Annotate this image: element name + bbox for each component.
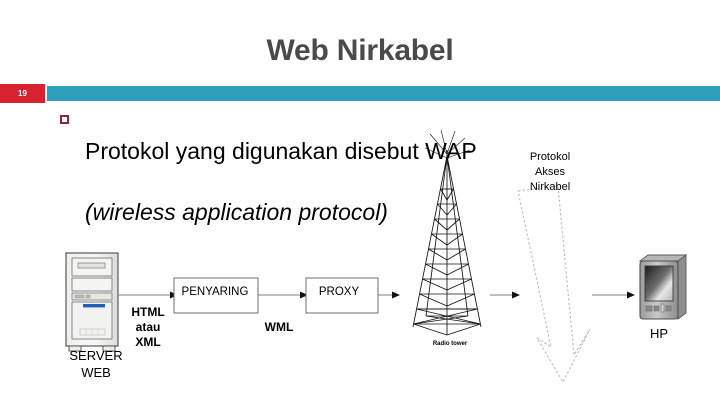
- label-protokol-akses-nirkabel: Protokol Akses Nirkabel: [505, 150, 595, 195]
- label-server-web: SERVER WEB: [48, 348, 144, 382]
- arrow-penyaring-to-proxy: [258, 292, 308, 299]
- page-title: Web Nirkabel: [0, 36, 720, 66]
- server-web-icon: [66, 253, 118, 351]
- slide-canvas: Web Nirkabel 19 Protokol yang digunakan …: [0, 0, 720, 405]
- accent-rule: [47, 86, 720, 101]
- label-proxy: PROXY: [309, 286, 369, 298]
- hp-device-icon: [640, 255, 686, 319]
- slide-number-text: 19: [0, 84, 45, 103]
- label-html-atau-xml: HTML atau XML: [120, 305, 176, 350]
- wireless-signal-arrow: [518, 186, 590, 382]
- arrow-server-to-penyaring: [118, 292, 178, 299]
- arrow-wireless-to-hp: [592, 292, 635, 299]
- wap-architecture-diagram: Protokol Akses Nirkabel PENYARING PROXY …: [0, 120, 720, 405]
- arrow-tower-to-wireless: [490, 292, 520, 299]
- label-hp: HP: [630, 326, 688, 341]
- label-wml: WML: [250, 320, 308, 334]
- arrow-proxy-to-tower: [378, 292, 400, 299]
- radio-tower-icon: [413, 130, 481, 335]
- label-penyaring: PENYARING: [176, 286, 254, 298]
- label-radio-tower: Radio tower: [405, 341, 495, 347]
